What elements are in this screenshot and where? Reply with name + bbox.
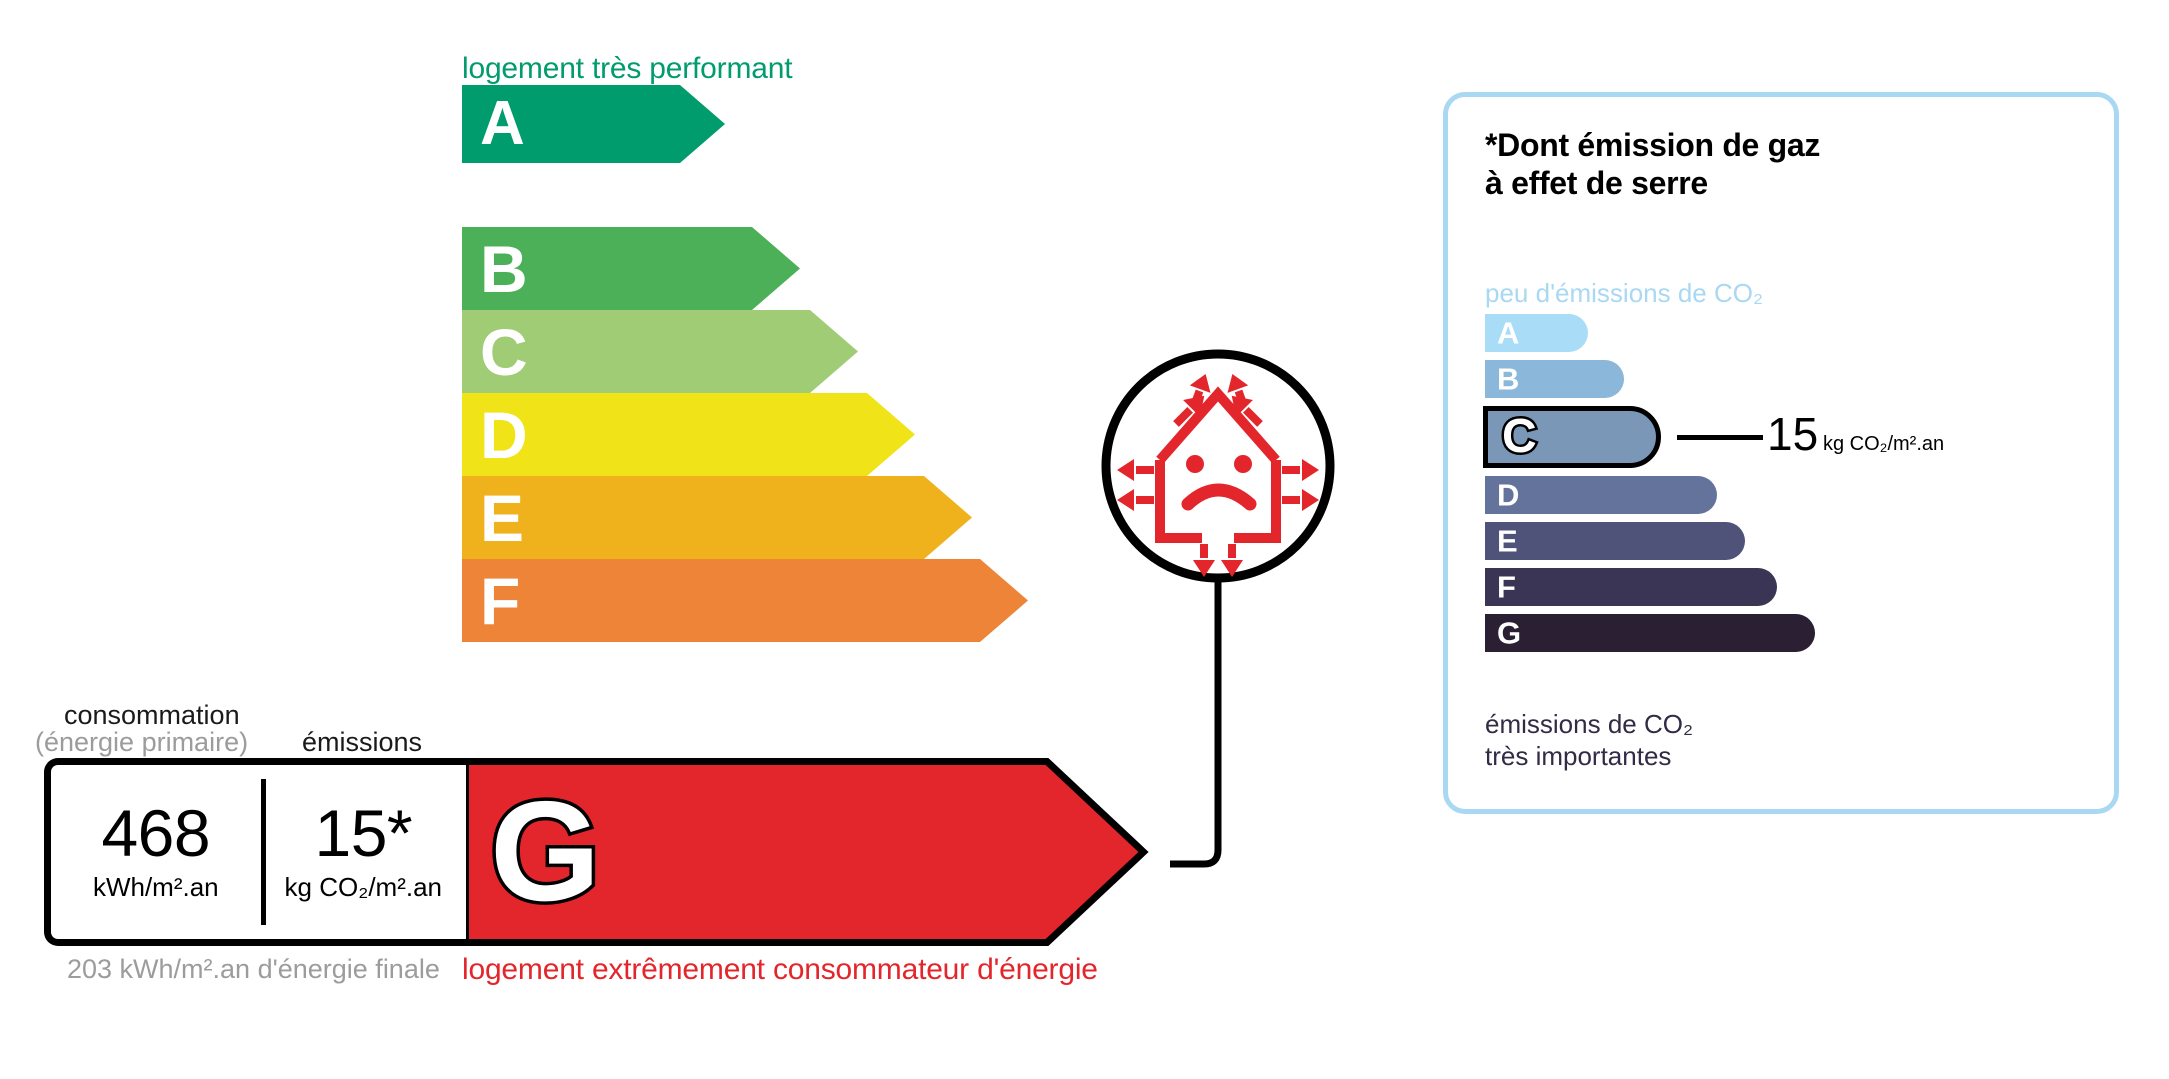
energy-band-g: G (462, 758, 1147, 946)
consumption-value: 468 (101, 801, 210, 866)
energy-band-shape-e (462, 476, 972, 559)
consumption-sublabel: (énergie primaire) (35, 727, 248, 758)
dpe-label: logement très performant ABCDEFG logemen… (0, 0, 2169, 1079)
co2-bar-g: G (1485, 614, 1815, 652)
emissions-value: 15* (314, 801, 412, 866)
co2-bar-letter-a: A (1497, 318, 1519, 349)
sad-house-heat-loss-icon (1098, 348, 1338, 868)
co2-bar-letter-b: B (1497, 364, 1519, 395)
co2-emissions-panel: *Dont émission de gaz à effet de serre p… (1443, 92, 2119, 814)
co2-bar-letter-f: F (1497, 572, 1516, 603)
energy-band-letter-a: A (480, 93, 525, 155)
energy-band-letter-f: F (480, 568, 520, 634)
consumption-unit: kWh/m².an (93, 872, 219, 903)
energy-band-b: B (462, 227, 800, 310)
co2-bar-letter-g: G (1497, 618, 1521, 649)
summary-value-box: 468 kWh/m².an 15* kg CO₂/m².an (44, 758, 466, 946)
co2-bar-b: B (1485, 360, 1624, 398)
co2-bar-c: C (1483, 406, 1661, 468)
co2-bottom-label: émissions de CO₂ très importantes (1485, 709, 1693, 772)
energy-band-c: C (462, 310, 858, 393)
final-energy-label: 203 kWh/m².an d'énergie finale (67, 953, 440, 986)
co2-bar-letter-e: E (1497, 526, 1518, 557)
scale-bottom-label: logement extrêmement consommateur d'éner… (462, 953, 1098, 987)
co2-bar-d: D (1485, 476, 1717, 514)
co2-panel-title: *Dont émission de gaz à effet de serre (1485, 126, 1820, 203)
energy-band-d: D (462, 393, 915, 476)
energy-band-shape-f (462, 559, 1028, 642)
co2-leader-line (1677, 435, 1763, 440)
energy-band-shape-d (462, 393, 915, 476)
emissions-label: émissions (302, 727, 422, 758)
co2-bar-a: A (1485, 314, 1588, 352)
current-class-marker (1098, 348, 1338, 868)
co2-value-unit: kg CO₂/m².an (1823, 433, 1944, 456)
energy-performance-scale: logement très performant ABCDEFG logemen… (0, 0, 1340, 1079)
co2-bar-letter-d: D (1497, 480, 1519, 511)
co2-bar-f: F (1485, 568, 1777, 606)
energy-band-letter-d: D (480, 402, 528, 468)
energy-band-letter-c: C (480, 319, 528, 385)
energy-band-letter-e: E (480, 485, 524, 551)
co2-top-label: peu d'émissions de CO₂ (1485, 278, 1763, 309)
energy-band-a: A (462, 85, 725, 163)
emissions-unit: kg CO₂/m².an (285, 872, 442, 903)
co2-bar-list: ABCDEFG15kg CO₂/m².an (1485, 314, 2085, 704)
energy-band-e: E (462, 476, 972, 559)
co2-bar-e: E (1485, 522, 1745, 560)
co2-bar-letter-c: C (1502, 413, 1537, 461)
co2-value: 15 (1767, 411, 1818, 457)
energy-band-f: F (462, 559, 1028, 642)
consumption-value-cell: 468 kWh/m².an (51, 765, 261, 939)
energy-band-letter-g: G (490, 781, 600, 923)
energy-band-letter-b: B (480, 236, 528, 302)
emissions-value-cell: 15* kg CO₂/m².an (261, 765, 466, 939)
